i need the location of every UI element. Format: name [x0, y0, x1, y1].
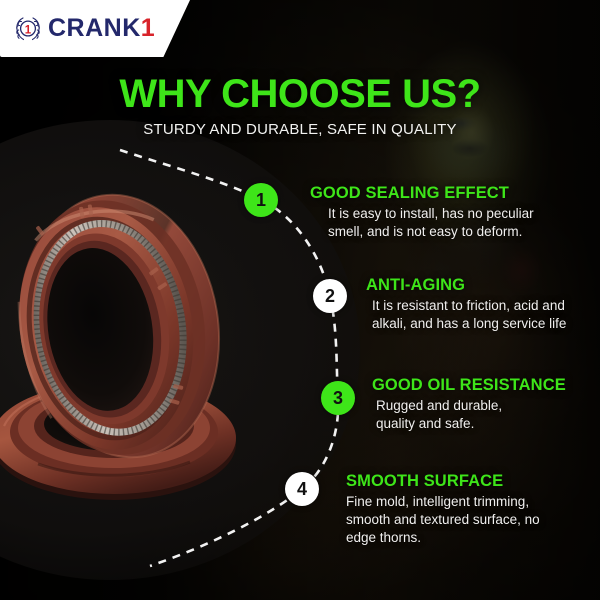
product-image-oil-seals	[0, 176, 262, 526]
laurel-wreath-icon: 1	[12, 13, 44, 45]
feature-4-heading: SMOOTH SURFACE	[346, 472, 594, 491]
feature-1-body: It is easy to install, has no peculiar s…	[310, 205, 572, 241]
feature-3-body-line: quality and safe.	[376, 415, 598, 433]
feature-3-body: Rugged and durable, quality and safe.	[372, 397, 598, 433]
feature-item-4: SMOOTH SURFACE Fine mold, intelligent tr…	[346, 472, 594, 547]
feature-badge-3-number: 3	[333, 388, 343, 409]
feature-2-body-line: It is resistant to friction, acid and	[372, 297, 600, 315]
feature-badge-3[interactable]: 3	[321, 381, 355, 415]
feature-1-body-line: smell, and is not easy to deform.	[328, 223, 572, 241]
feature-item-1: GOOD SEALING EFFECT It is easy to instal…	[310, 184, 572, 241]
feature-2-body-line: alkali, and has a long service life	[372, 315, 600, 333]
feature-badge-4[interactable]: 4	[285, 472, 319, 506]
infographic-page: 1 CRANK1 WHY CHOOSE US? STURDY AND DURAB…	[0, 0, 600, 600]
feature-4-body: Fine mold, intelligent trimming, smooth …	[346, 493, 594, 547]
feature-3-heading: GOOD OIL RESISTANCE	[372, 376, 598, 395]
feature-1-body-line: It is easy to install, has no peculiar	[328, 205, 572, 223]
feature-4-body-line: Fine mold, intelligent trimming,	[346, 493, 594, 511]
feature-item-3: GOOD OIL RESISTANCE Rugged and durable, …	[372, 376, 598, 433]
feature-item-2: ANTI-AGING It is resistant to friction, …	[366, 276, 600, 333]
wordmark-main: CRANK	[48, 14, 141, 42]
feature-4-body-line: edge thorns.	[346, 529, 594, 547]
feature-2-heading: ANTI-AGING	[366, 276, 600, 295]
laurel-number-text: 1	[25, 24, 32, 36]
feature-badge-4-number: 4	[297, 479, 307, 500]
brand-logo-banner[interactable]: 1 CRANK1	[0, 0, 190, 57]
feature-badge-1[interactable]: 1	[244, 183, 278, 217]
feature-badge-1-number: 1	[256, 190, 266, 211]
page-title: WHY CHOOSE US?	[0, 74, 600, 114]
feature-badge-2[interactable]: 2	[313, 279, 347, 313]
page-subtitle: STURDY AND DURABLE, SAFE IN QUALITY	[0, 121, 600, 138]
feature-1-heading: GOOD SEALING EFFECT	[310, 184, 572, 203]
feature-2-body: It is resistant to friction, acid and al…	[366, 297, 600, 333]
wordmark-accent: 1	[141, 14, 155, 42]
feature-4-body-line: smooth and textured surface, no	[346, 511, 594, 529]
feature-badge-2-number: 2	[325, 286, 335, 307]
feature-3-body-line: Rugged and durable,	[376, 397, 598, 415]
brand-wordmark: CRANK1	[48, 16, 155, 41]
